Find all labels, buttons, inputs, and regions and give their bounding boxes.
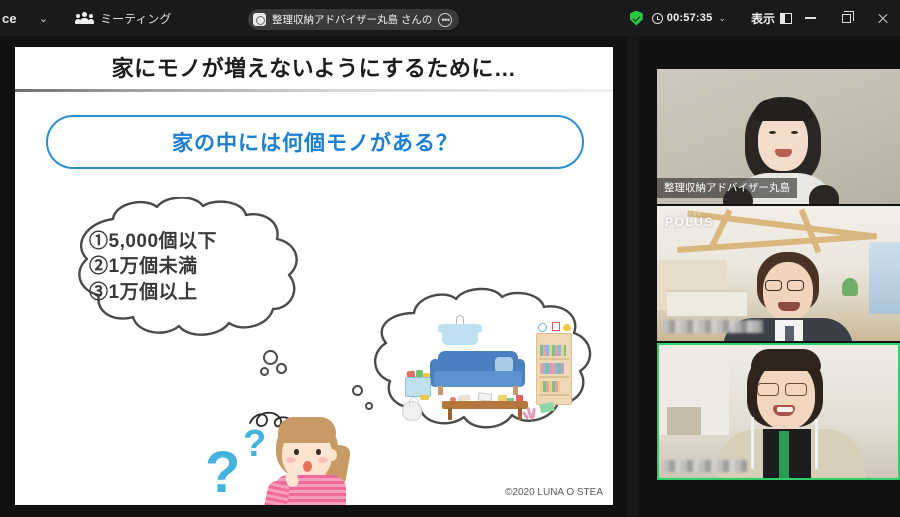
thought-bubble-room: [370, 285, 600, 445]
mouth-icon: [775, 149, 792, 157]
books-icon: [540, 363, 564, 374]
glasses-icon: [757, 383, 815, 396]
screen-share-indicator-pill[interactable]: 整理収納アドバイザー丸島 さんの •••: [248, 9, 459, 30]
bangs-icon: [278, 417, 336, 443]
option-item-3: ③1万個以上: [89, 280, 339, 305]
options-list: ①5,000個以下 ②1万個未満 ③1万個以上: [89, 229, 339, 305]
plant-icon: [842, 278, 858, 296]
view-label: 表示: [751, 10, 775, 27]
timer-chevron-down-icon[interactable]: ⌄: [718, 13, 726, 24]
option-item-2: ②1万個未満: [89, 254, 339, 279]
table-leg-icon: [448, 408, 452, 420]
meeting-timer[interactable]: 00:57:35 ⌄: [652, 12, 726, 24]
question-callout-text: 家の中には何個モノがある？: [172, 127, 458, 157]
toy-box-icon: [405, 377, 431, 397]
meeting-timer-value: 00:57:35: [667, 12, 713, 24]
shirt-on-hanger-icon: [440, 315, 480, 345]
window-title-bar: ce ⌄ ミーティング 整理収納アドバイザー丸島 さんの ••• 00:57:3…: [0, 0, 900, 36]
eye-icon: [294, 449, 299, 455]
teeth-icon: [777, 407, 793, 412]
blurred-name-strip: [663, 460, 747, 472]
screen-share-icon: [253, 13, 266, 26]
railing-icon: [667, 290, 747, 316]
plant-icon: [524, 407, 540, 421]
hair-strand-icon: [809, 185, 839, 204]
clock-icon: [652, 13, 663, 24]
bangs-icon: [751, 349, 821, 371]
people-icon: [76, 12, 93, 25]
cheek-icon: [318, 457, 328, 463]
picture-frame-icon: [667, 407, 701, 435]
cheek-icon: [286, 457, 296, 463]
slide-copyright: ©2020 LUNA O STEA: [505, 487, 603, 498]
necktie-icon: [785, 326, 794, 341]
books-icon: [540, 381, 560, 392]
app-menu-chevron-down-icon[interactable]: ⌄: [39, 12, 48, 25]
participant-tile-active-speaker[interactable]: [657, 343, 900, 480]
thought-bubble-dot: [352, 385, 363, 396]
minimize-button[interactable]: [792, 0, 828, 36]
screen-share-label: 整理収納アドバイザー丸島 さんの: [272, 12, 432, 27]
room-illustration: [400, 315, 572, 415]
participant-tile[interactable]: ポラスの注文住宅 POLUS POLUS: [657, 206, 900, 341]
window-icon: [869, 242, 900, 314]
thought-bubble-dot: [263, 350, 278, 365]
restore-icon: [842, 14, 851, 23]
question-mark-large-icon: ?: [205, 439, 240, 506]
shield-check-icon[interactable]: [630, 11, 643, 26]
title-divider: [15, 89, 613, 92]
wall-clock-icon: [538, 323, 547, 332]
meeting-tab-label: ミーティング: [100, 10, 171, 27]
participant-name-label: 整理収納アドバイザー丸島: [657, 178, 797, 198]
toy-icon: [420, 395, 429, 400]
bangs-icon: [753, 99, 813, 121]
app-name-truncated: ce: [0, 11, 17, 26]
thinking-woman-illustration: [258, 415, 368, 508]
thought-bubble-dot: [276, 363, 287, 374]
slide-title: 家にモノが増えないようにするために…: [15, 51, 613, 83]
coffee-table-icon: [442, 401, 528, 409]
lanyard-icon: [779, 431, 789, 480]
mouth-icon: [778, 302, 800, 311]
participant-filmstrip[interactable]: 整理収納アドバイザー丸島 ポラスの注文住宅 POLUS: [639, 36, 900, 517]
close-button[interactable]: [864, 0, 900, 36]
question-callout-box: 家の中には何個モノがある？: [46, 115, 584, 169]
sofa-seat-icon: [434, 371, 522, 387]
titlebar-left-group: ce ⌄ ミーティング: [0, 0, 171, 36]
eye-icon: [769, 131, 776, 134]
meeting-tab[interactable]: ミーティング: [76, 10, 171, 27]
eye-icon: [316, 449, 321, 455]
titlebar-right-group: 00:57:35 ⌄ 表示: [630, 0, 900, 36]
polus-watermark-sub-bottom: POLUS: [665, 228, 714, 232]
view-layout-button[interactable]: 表示: [751, 10, 792, 27]
cash-icon: [539, 402, 555, 414]
table-leg-icon: [518, 408, 522, 420]
shared-screen-stage[interactable]: 家にモノが増えないようにするために… 家の中には何個モノがある？ ①5,000個…: [0, 36, 627, 517]
books-icon: [540, 345, 566, 356]
presentation-slide: 家にモノが増えないようにするために… 家の中には何個モノがある？ ①5,000個…: [12, 44, 616, 508]
close-icon: [877, 13, 888, 24]
polus-watermark-sub-top: ポラスの注文住宅: [665, 212, 714, 216]
glasses-icon: [765, 280, 811, 292]
blurred-name-strip: [663, 320, 763, 333]
toy-duck-icon: [563, 324, 571, 331]
meeting-window: ce ⌄ ミーティング 整理収納アドバイザー丸島 さんの ••• 00:57:3…: [0, 0, 900, 517]
thought-bubble-options: ①5,000個以下 ②1万個未満 ③1万個以上: [53, 197, 363, 347]
minimize-icon: [805, 17, 816, 18]
eye-icon: [791, 131, 798, 134]
mouth-icon: [303, 461, 312, 472]
earphone-cable-icon: [815, 419, 818, 469]
panel-divider[interactable]: [627, 36, 639, 517]
participant-tile[interactable]: 整理収納アドバイザー丸島: [657, 69, 900, 204]
sofa-leg-icon: [513, 386, 518, 395]
ear-icon: [327, 449, 337, 461]
thought-bubble-dot: [260, 367, 269, 376]
sofa-leg-icon: [438, 386, 443, 395]
earphone-cable-icon: [751, 417, 754, 469]
option-item-1: ①5,000個以下: [89, 229, 339, 254]
more-options-icon[interactable]: •••: [438, 13, 452, 27]
layout-icon: [780, 13, 792, 24]
bag-icon: [402, 401, 422, 421]
polus-watermark: ポラスの注文住宅 POLUS POLUS: [665, 212, 714, 232]
restore-button[interactable]: [828, 0, 864, 36]
small-box-icon: [552, 322, 560, 331]
